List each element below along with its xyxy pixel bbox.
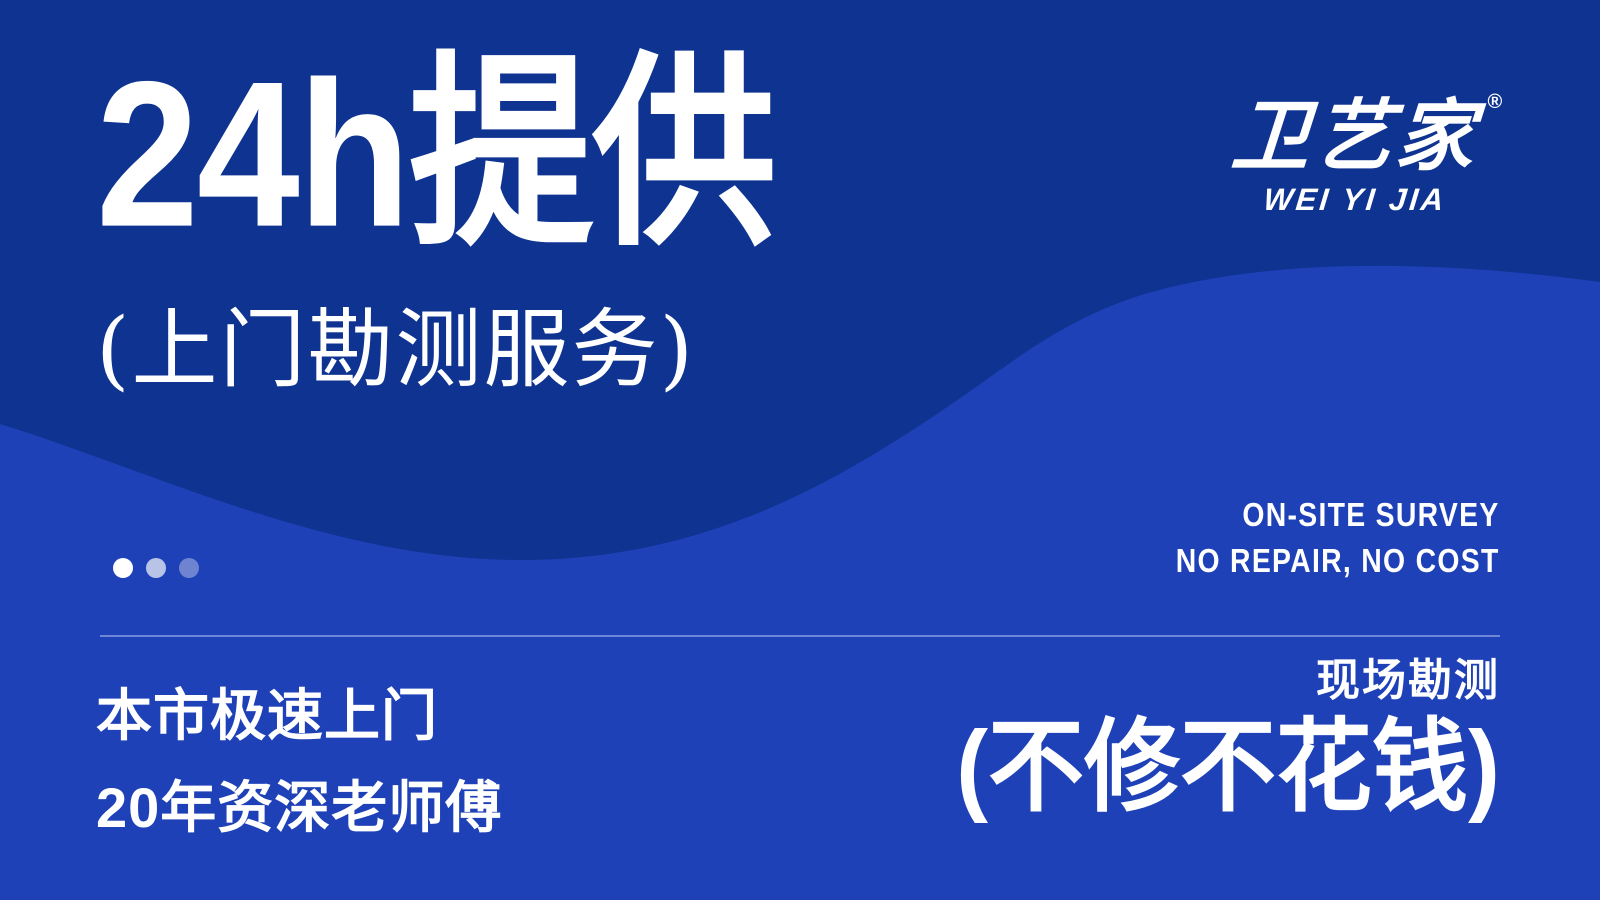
- english-tagline-line-2: NO REPAIR, NO COST: [1176, 538, 1500, 584]
- bottom-left-line-2: 20年资深老师傅: [96, 762, 502, 854]
- bottom-right-copy: 现场勘测 (不修不花钱): [956, 655, 1500, 817]
- headline-block: 24h提供 (上门勘测服务): [96, 52, 996, 237]
- logo-mark-text: 卫艺家: [1229, 92, 1481, 180]
- english-tagline-line-1: ON-SITE SURVEY: [1176, 492, 1500, 538]
- dot-1-icon: [113, 558, 133, 578]
- horizontal-divider: [100, 635, 1500, 637]
- promo-banner: 24h提供 (上门勘测服务) 卫艺家 ® WEI YI JIA ON-SITE …: [0, 0, 1600, 900]
- logo-latin-text: WEI YI JIA: [1188, 182, 1522, 218]
- registered-trademark-icon: ®: [1488, 92, 1507, 112]
- decorative-dots: [113, 558, 199, 578]
- bottom-right-headline: (不修不花钱): [956, 713, 1500, 823]
- headline-sub: (上门勘测服务): [96, 307, 695, 393]
- bottom-left-copy: 本市极速上门 20年资深老师傅: [96, 670, 502, 854]
- bottom-left-line-1: 本市极速上门: [96, 670, 502, 762]
- english-tagline: ON-SITE SURVEY NO REPAIR, NO COST: [1123, 492, 1500, 584]
- bottom-right-subtitle: 现场勘测: [956, 655, 1500, 707]
- dot-3-icon: [179, 558, 199, 578]
- logo-mark-cn: 卫艺家 ®: [1229, 96, 1481, 178]
- brand-logo[interactable]: 卫艺家 ® WEI YI JIA: [1190, 96, 1520, 218]
- headline-main: 24h提供: [96, 52, 996, 259]
- dot-2-icon: [146, 558, 166, 578]
